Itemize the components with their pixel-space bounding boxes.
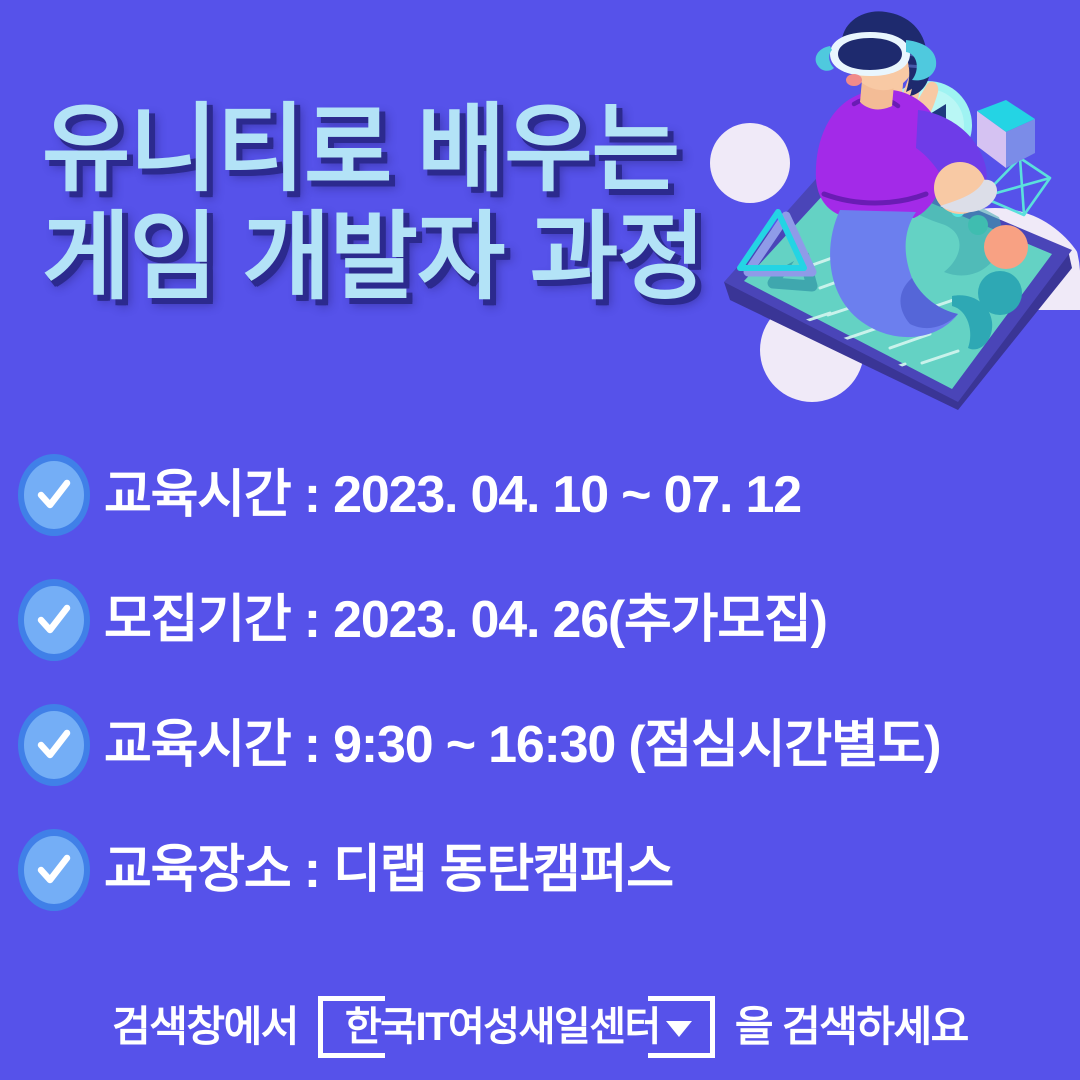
course-info-list: 교육시간 : 2023. 04. 10 ~ 07. 12 모집기간 : 2023…: [18, 452, 1068, 952]
search-instruction-bar: 검색창에서 한국IT여성새일센터 을 검색하세요: [0, 996, 1080, 1058]
list-item-label: 교육시간 : 2023. 04. 10 ~ 07. 12: [104, 469, 801, 521]
search-prefix-label: 검색창에서: [112, 1006, 298, 1048]
title-line-1: 유니티로 배우는: [42, 96, 742, 204]
list-item-label: 교육장소 : 디랩 동탄캠퍼스: [104, 844, 673, 896]
vr-user-on-tablet-illustration: [690, 10, 1080, 440]
person-resting-hand: [934, 162, 997, 214]
list-item-label: 모집기간 : 2023. 04. 26(추가모집): [104, 594, 827, 646]
list-item: 교육시간 : 2023. 04. 10 ~ 07. 12: [18, 452, 1068, 538]
page-title: 유니티로 배우는 게임 개발자 과정: [42, 96, 742, 311]
search-term-label: 한국IT여성새일센터: [345, 1007, 660, 1047]
check-circle-icon: [18, 704, 90, 786]
decor-dot-teal: [968, 215, 988, 235]
chevron-down-icon[interactable]: [666, 1021, 692, 1037]
decor-circle-orange: [984, 225, 1028, 269]
list-item-label: 교육시간 : 9:30 ~ 16:30 (점심시간별도): [104, 719, 940, 771]
title-line-2: 게임 개발자 과정: [42, 204, 742, 312]
search-term-box[interactable]: 한국IT여성새일센터: [318, 996, 715, 1058]
list-item: 교육시간 : 9:30 ~ 16:30 (점심시간별도): [18, 702, 1068, 788]
list-item: 교육장소 : 디랩 동탄캠퍼스: [18, 827, 1068, 913]
poster-canvas: 유니티로 배우는 게임 개발자 과정 교육시간 : 2023. 04. 10 ~…: [0, 0, 1080, 1080]
list-item: 모집기간 : 2023. 04. 26(추가모집): [18, 577, 1068, 663]
check-circle-icon: [18, 579, 90, 661]
check-circle-icon: [18, 454, 90, 536]
check-circle-icon: [18, 829, 90, 911]
isometric-cube-icon: [977, 100, 1035, 168]
search-suffix-label: 을 검색하세요: [735, 1006, 968, 1048]
person-cheek: [846, 74, 862, 86]
